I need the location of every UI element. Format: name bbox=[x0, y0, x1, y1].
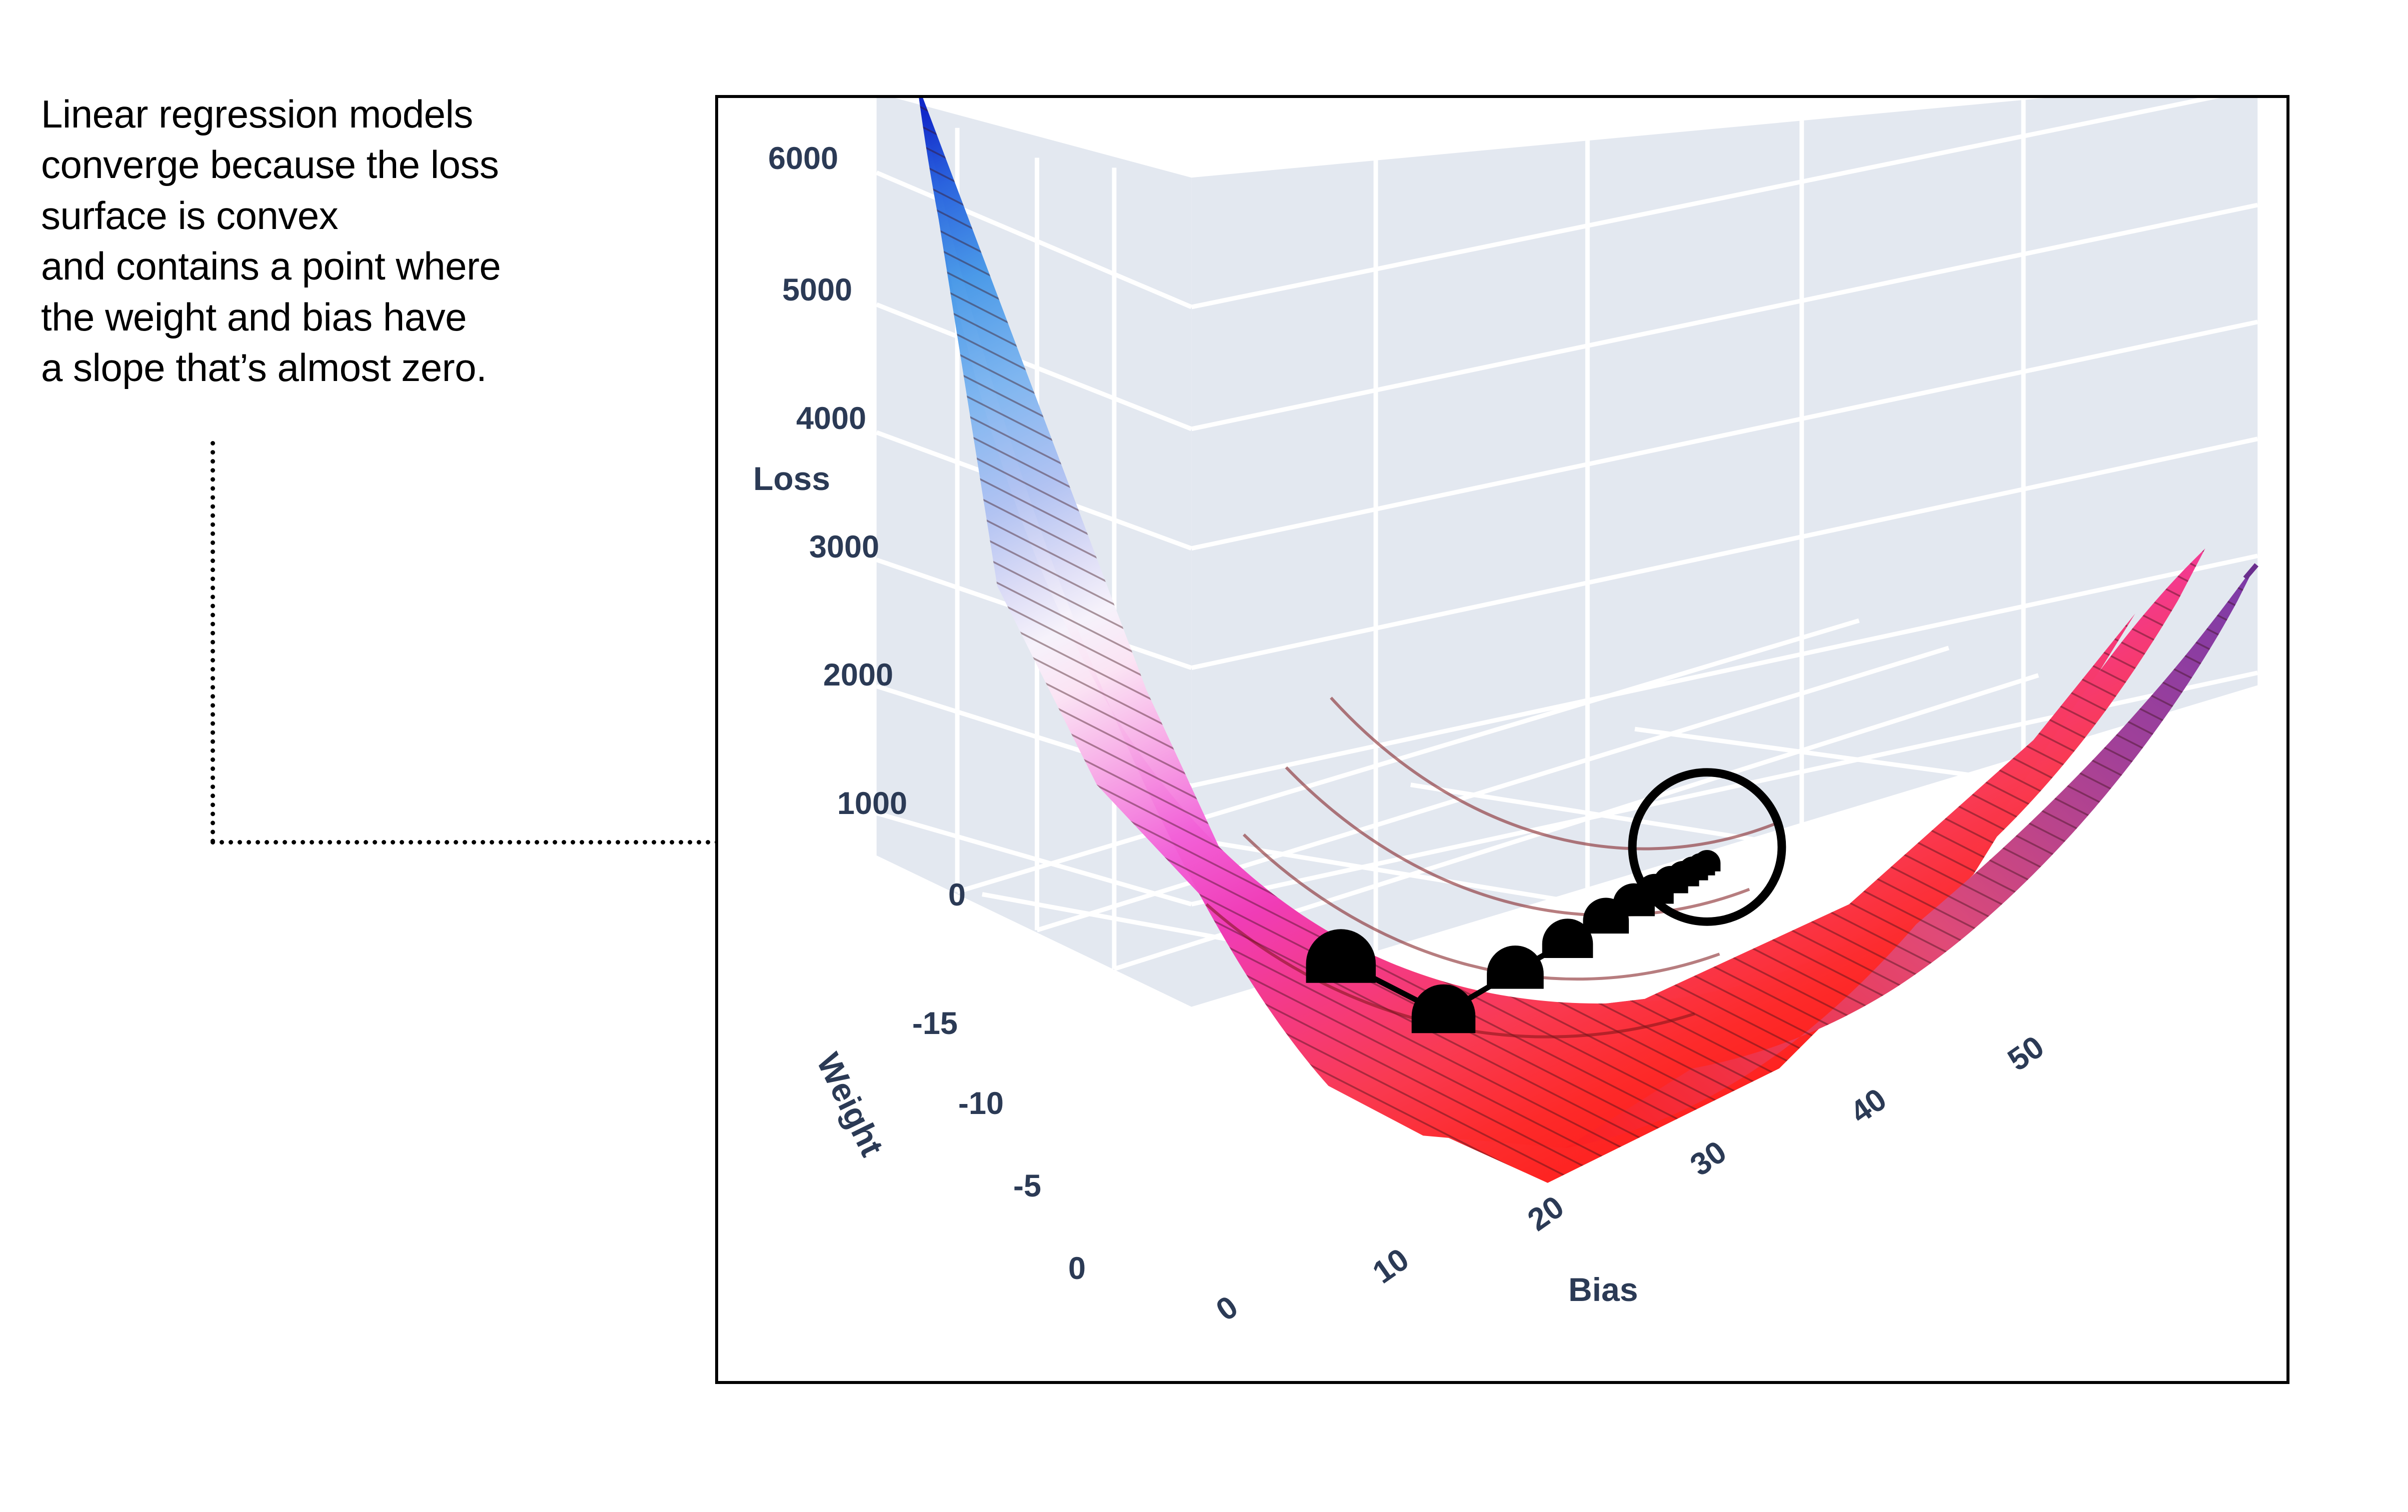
loss-surface-plot: 6000 5000 4000 3000 2000 1000 0 Loss -15… bbox=[715, 95, 2289, 1384]
plot-canvas bbox=[718, 98, 2286, 1381]
z-axis-title: Loss bbox=[753, 459, 830, 497]
z-tick-0: 0 bbox=[948, 877, 966, 913]
y-tick--10: -10 bbox=[958, 1085, 1004, 1121]
z-tick-3000: 3000 bbox=[809, 529, 879, 565]
z-tick-2000: 2000 bbox=[823, 657, 893, 693]
x-axis-title: Bias bbox=[1568, 1270, 1638, 1308]
z-tick-4000: 4000 bbox=[796, 400, 866, 436]
y-tick--15: -15 bbox=[912, 1005, 958, 1041]
z-tick-5000: 5000 bbox=[782, 272, 852, 308]
z-tick-6000: 6000 bbox=[768, 140, 838, 176]
z-tick-1000: 1000 bbox=[837, 785, 907, 821]
y-tick--5: -5 bbox=[1013, 1168, 1041, 1204]
path-marker bbox=[1487, 945, 1544, 989]
leader-line-vertical bbox=[211, 441, 215, 843]
annotation-text: Linear regression models converge becaus… bbox=[41, 89, 676, 393]
y-tick-0: 0 bbox=[1068, 1250, 1086, 1286]
